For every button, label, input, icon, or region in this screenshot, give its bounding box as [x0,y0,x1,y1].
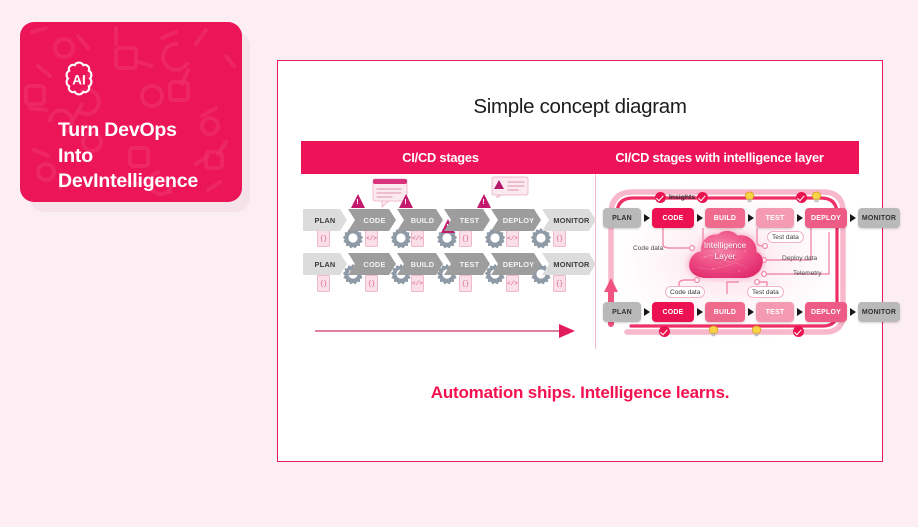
promo-heading-line-1: Turn DevOps [58,118,238,144]
code-document-icon: {} [553,230,566,247]
column-header-bar: CI/CD stages CI/CD stages with intellige… [301,141,859,174]
stage-build[interactable]: BUILD [705,302,745,322]
stage-build[interactable]: BUILD [397,253,443,275]
stage-deploy[interactable]: DEPLOY [805,208,847,228]
arrow-separator-icon [850,308,856,316]
stage-test[interactable]: TEST [444,253,490,275]
code-document-icon: {} [317,230,330,247]
label-telemetry: Telemetry [793,270,822,277]
stage-monitor[interactable]: MONITOR [542,209,596,231]
alert-note-icon [491,176,529,198]
left-stage-row-2: PLAN CODE BUILD TEST DEPLOY MONITOR [303,253,597,275]
stage-test[interactable]: TEST [444,209,490,231]
right-stage-row-1: PLAN CODE BUILD TEST DEPLOY MONITOR [603,208,900,228]
code-document-icon: {} [317,275,330,292]
check-circle-icon [796,192,807,203]
stage-build[interactable]: BUILD [705,208,745,228]
right-arrow-icon [315,324,575,338]
label-code-data: Code data [633,245,663,252]
arrow-separator-icon [797,214,803,222]
label-test-data: Test data [747,286,784,298]
label-test-data: Test data [767,231,804,243]
insights-label: Insights [669,194,695,201]
check-circle-icon [793,326,804,337]
stage-build[interactable]: BUILD [397,209,443,231]
lightbulb-icon [751,325,762,338]
lightbulb-icon [811,191,822,204]
arrow-separator-icon [644,308,650,316]
code-document-icon: {} [365,275,378,292]
stage-test[interactable]: TEST [756,208,794,228]
code-document-icon: {} [459,275,472,292]
promo-heading-line-2: Into [58,144,238,170]
tagline: Automation ships. Intelligence learns. [278,383,882,403]
stage-deploy[interactable]: DEPLOY [491,209,541,231]
column-header-left: CI/CD stages [301,141,580,174]
stage-plan[interactable]: PLAN [303,253,347,275]
check-circle-icon [655,192,666,203]
check-circle-icon [697,192,708,203]
right-stage-row-2: PLAN CODE BUILD TEST DEPLOY MONITOR [603,302,900,322]
right-diagram-panel: Intelligence Layer Insights PLAN [597,174,859,349]
intelligence-cloud-brain-icon [683,227,767,283]
arrow-separator-icon [748,214,754,222]
promo-heading: Turn DevOps Into DevIntelligence [58,118,238,195]
code-document-icon: {} [553,275,566,292]
column-header-right: CI/CD stages with intelligence layer [580,141,859,174]
left-stage-row-1: PLAN CODE BUILD TEST DEPLOY MONITOR [303,209,597,231]
arrow-separator-icon [697,308,703,316]
diagram-title: Simple concept diagram [278,95,882,119]
diagram-body: {} </> </> {} </> {} {} {} </> {} </> {} [301,174,859,349]
warning-triangle-icon [399,194,413,208]
arrow-separator-icon [797,308,803,316]
code-document-icon: </> [506,275,519,292]
check-circle-icon [659,326,670,337]
code-document-icon: </> [506,230,519,247]
stage-monitor[interactable]: MONITOR [858,302,900,322]
stage-deploy[interactable]: DEPLOY [491,253,541,275]
label-code-data: Code data [665,286,705,298]
stage-code[interactable]: CODE [348,209,396,231]
stage-plan[interactable]: PLAN [303,209,347,231]
stage-monitor[interactable]: MONITOR [542,253,596,275]
stage-test[interactable]: TEST [756,302,794,322]
stage-code[interactable]: CODE [652,302,694,322]
stage-plan[interactable]: PLAN [603,302,641,322]
stage-deploy[interactable]: DEPLOY [805,302,847,322]
stage-plan[interactable]: PLAN [603,208,641,228]
promo-heading-line-3: DevIntelligence [58,169,238,195]
arrow-separator-icon [644,214,650,222]
svg-text:AI: AI [72,73,86,88]
code-document-icon: {} [459,230,472,247]
stage-monitor[interactable]: MONITOR [858,208,900,228]
lightbulb-icon [744,191,755,204]
arrow-separator-icon [850,214,856,222]
left-diagram-panel: {} </> </> {} </> {} {} {} </> {} </> {} [301,174,593,349]
arrow-separator-icon [697,214,703,222]
stage-code[interactable]: CODE [348,253,396,275]
stage-code[interactable]: CODE [652,208,694,228]
warning-triangle-icon [351,194,365,208]
lightbulb-icon [708,325,719,338]
code-document-icon: </> [365,230,378,247]
warning-triangle-icon [477,194,491,208]
label-deploy-data: Deploy data [782,255,817,262]
arrow-separator-icon [748,308,754,316]
promo-card: AI Turn DevOps Into DevIntelligence [20,22,242,202]
diagram-content-panel: Simple concept diagram CI/CD stages CI/C… [277,60,883,462]
ai-brain-badge-icon: AI [58,60,100,102]
